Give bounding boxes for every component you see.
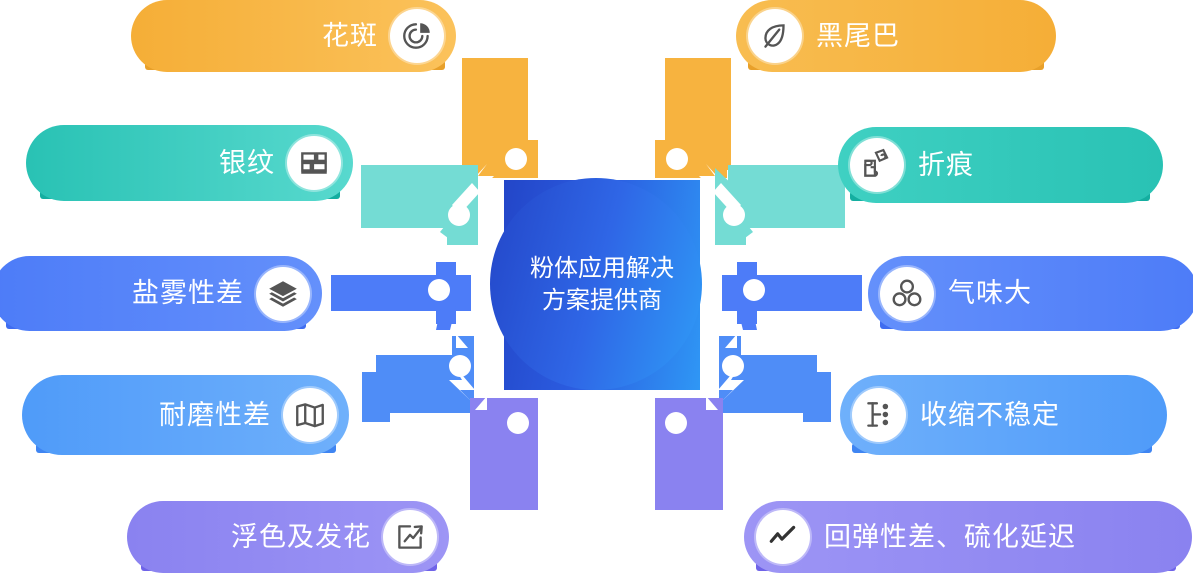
node-right-2-label: 折痕 (918, 152, 974, 179)
pie-chart-icon (390, 9, 444, 63)
infographic-canvas: 粉体应用解决 方案提供商 花斑 银纹 (0, 0, 1193, 577)
node-right-4[interactable]: 收缩不稳定 (840, 375, 1167, 455)
node-right-4-label: 收缩不稳定 (920, 402, 1060, 429)
node-right-3-label: 气味大 (948, 280, 1032, 307)
brick-wall-icon (287, 136, 341, 190)
center-label-line2: 方案提供商 (542, 285, 662, 317)
connector-left-5 (470, 396, 538, 510)
node-left-5[interactable]: 浮色及发花 (127, 501, 449, 573)
recycle-icon (880, 267, 934, 321)
node-left-3-label: 盐雾性差 (132, 280, 244, 307)
node-left-3[interactable]: 盐雾性差 (0, 256, 322, 331)
node-left-1[interactable]: 花斑 (131, 0, 456, 72)
node-right-5[interactable]: 回弹性差、硫化延迟 (744, 501, 1192, 573)
node-left-2-label: 银纹 (219, 150, 275, 177)
center-label-line1: 粉体应用解决 (530, 253, 674, 285)
node-right-1[interactable]: 黑尾巴 (736, 0, 1056, 72)
connector-left-3 (331, 262, 471, 330)
node-tree-icon (852, 388, 906, 442)
node-left-4-label: 耐磨性差 (159, 402, 271, 429)
layers-icon (256, 267, 310, 321)
node-left-1-label: 花斑 (322, 23, 378, 50)
connector-left-4 (362, 334, 475, 422)
node-right-1-label: 黑尾巴 (816, 23, 900, 50)
trend-box-icon (383, 510, 437, 564)
node-right-3[interactable]: 气味大 (868, 256, 1193, 331)
connector-left-2 (361, 165, 480, 245)
connector-right-3 (722, 262, 862, 330)
node-right-5-label: 回弹性差、硫化延迟 (824, 524, 1076, 551)
leaf-icon (748, 9, 802, 63)
node-left-4[interactable]: 耐磨性差 (22, 375, 349, 455)
connector-right-2 (713, 165, 845, 245)
center-label: 粉体应用解决 方案提供商 (504, 180, 700, 390)
center-hub: 粉体应用解决 方案提供商 (504, 180, 700, 390)
connector-right-4 (718, 334, 831, 422)
node-left-2[interactable]: 银纹 (26, 125, 353, 201)
node-right-2[interactable]: 折痕 (838, 127, 1163, 203)
puzzle-icon (850, 138, 904, 192)
map-book-icon (283, 388, 337, 442)
connector-right-5 (655, 396, 723, 510)
line-chart-icon (756, 510, 810, 564)
node-left-5-label: 浮色及发花 (231, 524, 371, 551)
